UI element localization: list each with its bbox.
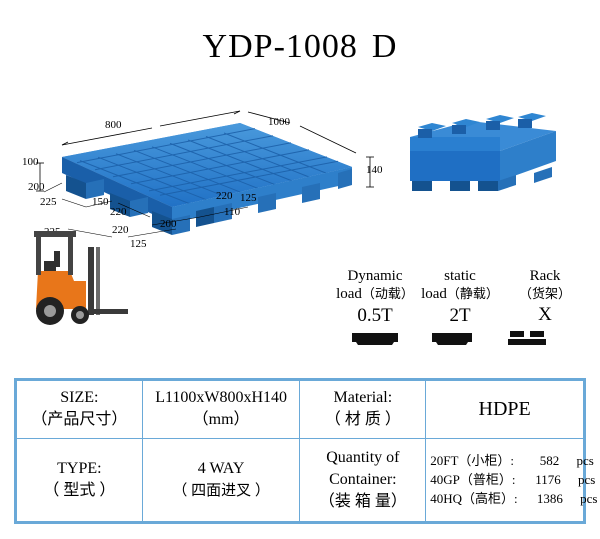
svg-text:200: 200 [160,218,177,230]
type-value-cn: （ 四面进叉 ） [147,480,296,502]
cell-material-label: Material: （ 材 质 ） [300,381,426,439]
svg-text:1000: 1000 [268,116,291,128]
svg-text:125: 125 [130,238,147,250]
rack-load-block: Rack （货架） X [505,268,585,326]
table-row: SIZE: （产品尺寸） L1100xW800xH140（mm） Materia… [17,381,584,439]
load-labels-row: Dynamic load（动载） 0.5T static load（静载） 2T… [335,232,585,342]
qty-count-40gp: 1176 [519,470,561,489]
static-load-line2: load（静载） [420,285,500,303]
svg-text:140: 140 [366,164,383,176]
type-label-cn: （ 型式 ） [21,480,138,502]
cell-material-value: HDPE [426,381,584,439]
type-value-en: 4 WAY [147,458,296,480]
size-label-cn: （产品尺寸） [21,409,138,431]
svg-text:200: 200 [28,181,45,193]
qty-count-20ft: 582 [517,451,559,470]
qty-count-40hq: 1386 [521,489,563,508]
static-load-block: static load（静载） 2T [420,268,500,327]
qty-unit-20ft: pcs [577,451,594,470]
svg-text:110: 110 [224,206,241,218]
size-label-en: SIZE: [21,387,138,409]
pallet-isometric [62,123,352,235]
qty-row: 20FT（小柜）: 582 pcs [430,451,579,470]
svg-text:100: 100 [22,156,39,168]
cell-qty-values: 20FT（小柜）: 582 pcs 40GP（普柜）: 1176 pcs 40H… [426,438,584,521]
rack-load-value: X [505,304,585,326]
cell-size-value: L1100xW800xH140（mm） [142,381,300,439]
qty-label-1: Quantity of [304,447,421,469]
qty-unit-40hq: pcs [580,489,597,508]
cell-size-label: SIZE: （产品尺寸） [17,381,143,439]
svg-text:220: 220 [216,190,233,202]
dynamic-load-line2: load（动载） [335,285,415,303]
static-load-line1: static [420,268,500,285]
qty-row: 40GP（普柜）: 1176 pcs [430,470,579,489]
svg-text:220: 220 [112,224,129,236]
rack-load-cn: （货架） [505,285,585,302]
material-label-cn: （ 材 质 ） [304,409,421,431]
cell-type-label: TYPE: （ 型式 ） [17,438,143,521]
cell-type-value: 4 WAY （ 四面进叉 ） [142,438,300,521]
dynamic-load-block: Dynamic load（动载） 0.5T [335,268,415,327]
qty-name-40hq: 40HQ（高柜）: [430,491,517,506]
size-value: L1100xW800xH140（mm） [147,387,296,431]
material-value: HDPE [430,398,579,421]
static-load-value: 2T [420,305,500,327]
forklift-illustration [34,231,128,325]
table-row: TYPE: （ 型式 ） 4 WAY （ 四面进叉 ） Quantity of … [17,438,584,521]
type-label-en: TYPE: [21,458,138,480]
material-label-en: Material: [304,387,421,409]
svg-text:125: 125 [240,192,257,204]
page-title: YDP-1008D [0,28,600,66]
pallet-end-view [410,113,556,191]
dynamic-load-line1: Dynamic [335,268,415,285]
qty-name-20ft: 20FT（小柜）: [430,453,514,468]
svg-text:800: 800 [105,119,122,131]
rack-load-line1: Rack [505,268,585,285]
svg-text:220: 220 [110,206,127,218]
qty-unit-40gp: pcs [578,470,595,489]
dynamic-load-value: 0.5T [335,305,415,327]
svg-text:225: 225 [40,196,57,208]
spec-table: SIZE: （产品尺寸） L1100xW800xH140（mm） Materia… [14,378,586,524]
qty-name-40gp: 40GP（普柜）: [430,472,515,487]
qty-label-cn: （装 箱 量） [304,491,421,513]
qty-label-2: Container: [304,469,421,491]
qty-row: 40HQ（高柜）: 1386 pcs [430,489,579,508]
cell-qty-label: Quantity of Container: （装 箱 量） [300,438,426,521]
title-model: YDP-1008 [203,28,358,65]
title-suffix: D [372,28,398,65]
